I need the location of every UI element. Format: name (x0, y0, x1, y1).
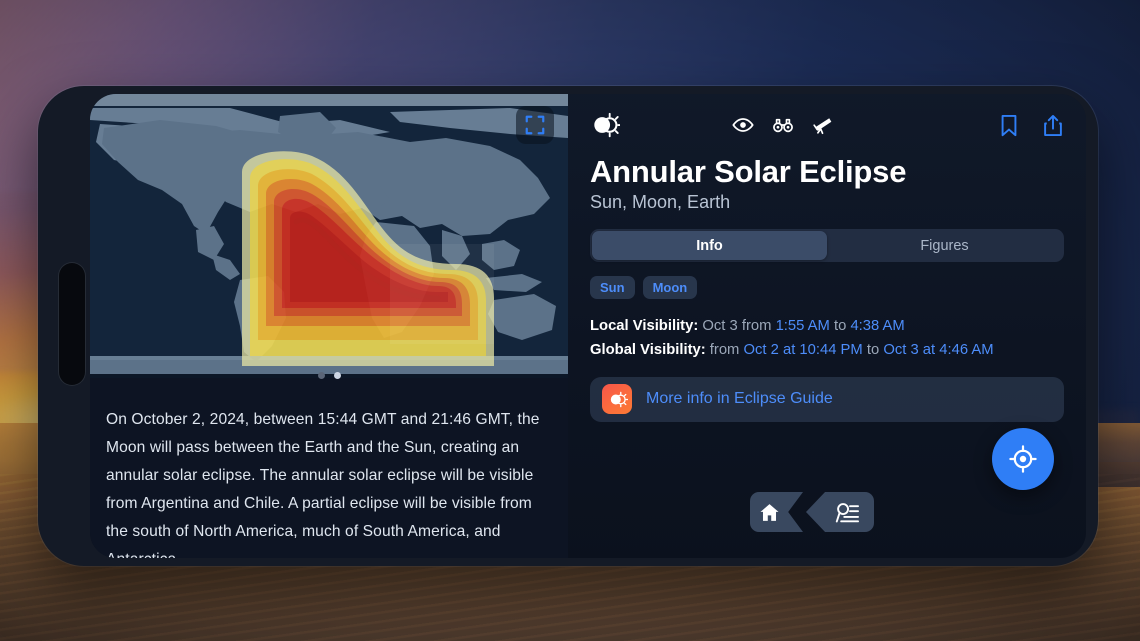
binoculars-icon[interactable] (772, 114, 794, 136)
locate-target-icon (1007, 443, 1039, 475)
chip-moon[interactable]: Moon (643, 276, 698, 299)
fullscreen-expand-icon (524, 114, 546, 136)
tab-figures[interactable]: Figures (827, 231, 1062, 260)
eclipse-world-map[interactable] (90, 94, 568, 384)
eclipse-guide-button[interactable]: More info in Eclipse Guide (590, 377, 1064, 422)
visibility-block: Local Visibility: Oct 3 from 1:55 AM to … (590, 315, 1064, 363)
eclipse-description-text: On October 2, 2024, between 15:44 GMT an… (106, 406, 546, 558)
chip-sun[interactable]: Sun (590, 276, 635, 299)
local-visibility-joiner: to (830, 318, 851, 334)
observation-icons (702, 114, 834, 136)
eclipse-guide-label: More info in Eclipse Guide (646, 390, 833, 408)
page-subtitle: Sun, Moon, Earth (590, 192, 1064, 213)
global-visibility-start[interactable]: Oct 2 at 10:44 PM (744, 342, 863, 358)
device-camera-notch (58, 262, 86, 386)
local-visibility-start[interactable]: 1:55 AM (776, 318, 830, 334)
home-icon (758, 501, 781, 524)
eclipse-map-pane: On October 2, 2024, between 15:44 GMT an… (90, 94, 568, 558)
description-pane: On October 2, 2024, between 15:44 GMT an… (90, 378, 568, 558)
nav-home-button[interactable] (750, 492, 803, 532)
global-visibility-end[interactable]: Oct 3 at 4:46 AM (883, 342, 993, 358)
page-title: Annular Solar Eclipse (590, 154, 1064, 190)
device-frame: On October 2, 2024, between 15:44 GMT an… (38, 86, 1098, 566)
nav-details-button[interactable] (806, 492, 874, 532)
carousel-dot-active[interactable] (334, 372, 341, 379)
carousel-dot[interactable] (318, 372, 325, 379)
fullscreen-button[interactable] (516, 106, 554, 144)
panel-actions (998, 113, 1064, 138)
info-panel: Annular Solar Eclipse Sun, Moon, Earth I… (568, 94, 1086, 558)
object-chips: Sun Moon (590, 276, 1064, 299)
device-screen: On October 2, 2024, between 15:44 GMT an… (90, 94, 1086, 558)
eclipse-sun-icon (590, 110, 620, 140)
tab-info[interactable]: Info (592, 231, 827, 260)
share-icon[interactable] (1042, 113, 1064, 138)
eclipse-guide-app-icon (602, 384, 632, 414)
global-visibility-label: Global Visibility: (590, 342, 706, 358)
global-visibility-joiner: to (863, 342, 884, 358)
local-visibility-end[interactable]: 4:38 AM (850, 318, 904, 334)
locate-fab[interactable] (992, 428, 1054, 490)
local-visibility-label: Local Visibility: (590, 318, 698, 334)
panel-toolbar (590, 108, 1064, 142)
bottom-nav (750, 492, 874, 532)
panel-bottom-area (590, 422, 1064, 558)
local-visibility-row: Local Visibility: Oct 3 from 1:55 AM to … (590, 315, 1064, 339)
object-details-icon (835, 501, 860, 524)
bookmark-icon[interactable] (998, 113, 1020, 138)
global-visibility-prefix: from (706, 342, 744, 358)
eye-icon[interactable] (732, 114, 754, 136)
global-visibility-row: Global Visibility: from Oct 2 at 10:44 P… (590, 339, 1064, 363)
world-map-graphic (90, 94, 568, 384)
carousel-page-indicator[interactable] (90, 372, 568, 379)
telescope-icon[interactable] (812, 114, 834, 136)
local-visibility-prefix: Oct 3 from (698, 318, 775, 334)
tab-bar: Info Figures (590, 229, 1064, 262)
